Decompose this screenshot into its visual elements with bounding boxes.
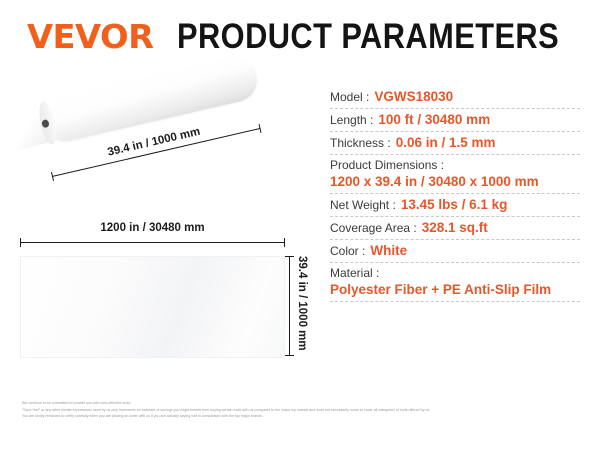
spec-label: Length : [330,113,373,127]
spec-value: White [370,243,407,258]
spec-value: VGWS18030 [374,89,453,104]
spec-label: Net Weight : [330,198,396,212]
sheet-height-dimension-line [289,256,290,356]
sheet-width-label: 1200 in / 30480 mm [20,222,285,234]
roll-dimension-label: 39.4 in / 1000 mm [106,126,201,159]
spec-row: Model :VGWS18030 [330,86,580,109]
spec-row: Material :Polyester Fiber + PE Anti-Slip… [330,263,580,302]
page-title: PRODUCT PARAMETERS [177,19,559,54]
spec-line: Net Weight :13.45 lbs / 6.1 kg [330,197,580,212]
spec-label: Product Dimensions : [330,158,575,172]
roll-core-hole [41,119,50,128]
spec-label: Material : [330,266,575,280]
disclaimer-line-1: We continue to be committed to provide y… [22,400,582,407]
spec-value: 0.06 in / 1.5 mm [396,135,496,150]
product-roll-image: 39.4 in / 1000 mm [0,72,320,212]
disclaimer-line-2: "Save Half" or any other similar express… [22,407,582,414]
spec-line: Color :White [330,243,580,258]
spec-value: 328.1 sq.ft [422,220,488,235]
disclaimer-text: We continue to be committed to provide y… [22,400,582,420]
spec-label: Model : [330,90,369,104]
spec-line: Length :100 ft / 30480 mm [330,112,580,127]
spec-value: 13.45 lbs / 6.1 kg [401,197,508,212]
disclaimer-line-3: You are kindly reminded to verify carefu… [22,413,582,420]
sheet-height-label: 39.4 in / 1000 mm [296,256,308,356]
spec-row: Coverage Area :328.1 sq.ft [330,217,580,240]
spec-row: Thickness :0.06 in / 1.5 mm [330,132,580,155]
product-visuals: 39.4 in / 1000 mm 1200 in / 30480 mm 39.… [0,72,320,392]
spec-label: Color : [330,244,365,258]
spec-value: 100 ft / 30480 mm [378,112,490,127]
spec-row: Color :White [330,240,580,263]
spec-row: Length :100 ft / 30480 mm [330,109,580,132]
spec-line: Coverage Area :328.1 sq.ft [330,220,580,235]
spec-value: Polyester Fiber + PE Anti-Slip Film [330,282,580,297]
spec-line: Thickness :0.06 in / 1.5 mm [330,135,580,150]
vevor-logo: VEVOR [27,20,153,53]
sheet-width-dimension-line [20,242,285,243]
sheet-surface [20,256,285,358]
specifications-panel: Model :VGWS18030Length :100 ft / 30480 m… [330,86,580,302]
spec-label: Thickness : [330,136,391,150]
product-sheet-diagram: 1200 in / 30480 mm 39.4 in / 1000 mm [0,222,320,392]
spec-label: Coverage Area : [330,221,417,235]
spec-row: Product Dimensions :1200 x 39.4 in / 304… [330,155,580,194]
page-header: VEVOR PRODUCT PARAMETERS [0,0,600,72]
spec-value: 1200 x 39.4 in / 30480 x 1000 mm [330,174,580,189]
spec-line: Model :VGWS18030 [330,89,580,104]
spec-row: Net Weight :13.45 lbs / 6.1 kg [330,194,580,217]
